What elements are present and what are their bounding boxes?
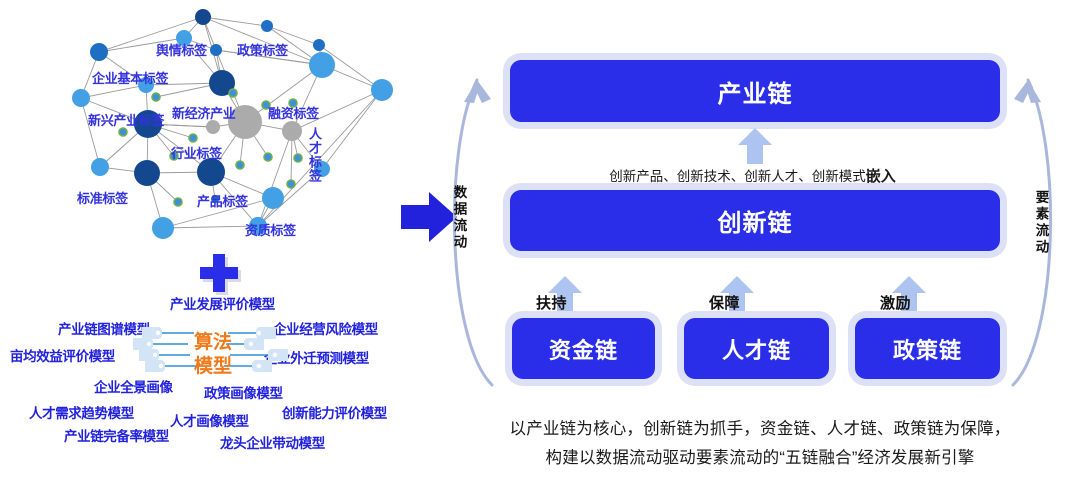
embed-bold-text: 嵌入: [866, 168, 896, 185]
model-label: 龙头企业带动模型: [220, 432, 325, 452]
graph-node-label: 舆情标签: [156, 40, 207, 59]
graph-edge: [81, 98, 100, 167]
graph-node[interactable]: [72, 89, 90, 107]
graph-node[interactable]: [189, 134, 197, 142]
policy-chain-box[interactable]: 政策链: [855, 318, 1000, 379]
capital-chain-box[interactable]: 资金链: [512, 318, 655, 379]
graph-node[interactable]: [261, 20, 273, 32]
caption-block: 以产业链为核心，创新链为抓手，资金链、人才链、政策链为保障， 构建以数据流动驱动…: [455, 415, 1065, 473]
policy-chain-label: 政策链: [893, 333, 962, 365]
step-label-policy: 激励: [880, 292, 911, 313]
step-label-talent: 保障: [709, 292, 740, 313]
graph-node-label: 资质标签: [245, 220, 296, 239]
graph-node-label: 新经济产业: [172, 103, 236, 122]
graph-edge: [163, 226, 258, 228]
talent-chain-label: 人才链: [722, 333, 791, 365]
factor-flow-arc: [995, 40, 1070, 400]
graph-node[interactable]: [90, 43, 108, 61]
graph-node[interactable]: [294, 154, 302, 162]
graph-node-label: 标准标签: [77, 188, 128, 207]
graph-node[interactable]: [236, 161, 244, 169]
algo-line-1: 算法: [194, 327, 232, 354]
graph-node-label: 政策标签: [237, 40, 288, 59]
graph-node[interactable]: [371, 79, 393, 101]
embed-description: 创新产品、创新技术、创新人才、创新模式嵌入: [430, 165, 1075, 186]
algorithm-model-core: 算法 模型: [185, 325, 275, 380]
model-label: 人才画像模型: [170, 410, 249, 430]
data-flow-arc: [435, 40, 510, 400]
industry-chain-box[interactable]: 产业链: [510, 60, 1000, 122]
arrow-up-innovation-to-industry-icon: [738, 128, 772, 164]
graph-node[interactable]: [134, 160, 160, 186]
graph-node-label: 融资标签: [268, 103, 319, 122]
embed-text: 创新产品、创新技术、创新人才、创新模式: [609, 169, 866, 184]
graph-node[interactable]: [197, 158, 225, 186]
graph-edge: [203, 17, 267, 26]
graph-node-label: 人才标签: [305, 127, 324, 183]
graph-node[interactable]: [229, 89, 237, 97]
graph-node-label: 新兴产业标签: [88, 110, 164, 129]
step-label-capital: 扶持: [536, 292, 567, 313]
five-chain-diagram: 数据流动 要素流动 产业链 创新产品、创新技术、创新人才、创新模式嵌入 创新链 …: [430, 40, 1075, 400]
data-flow-label: 数据流动: [452, 185, 466, 251]
algo-line-2: 模型: [194, 351, 232, 378]
graph-edge: [258, 131, 292, 226]
model-label: 产业发展评价模型: [170, 293, 275, 313]
graph-node[interactable]: [119, 128, 127, 136]
knowledge-graph-svg: [55, 5, 400, 270]
graph-node[interactable]: [206, 120, 220, 134]
graph-node[interactable]: [174, 198, 182, 206]
diagram-canvas: 舆情标签政策标签企业基本标签新经济产业融资标签新兴产业标签行业标签人才标签标准标…: [0, 0, 1075, 492]
factor-flow-label: 要素流动: [1034, 190, 1048, 256]
graph-node[interactable]: [262, 187, 284, 209]
innovation-chain-label: 创新链: [718, 203, 793, 238]
graph-node[interactable]: [91, 158, 109, 176]
graph-edge: [322, 90, 382, 169]
graph-node[interactable]: [152, 93, 160, 101]
graph-node[interactable]: [210, 44, 222, 56]
model-label: 亩均效益评价模型: [10, 345, 115, 365]
graph-node-label: 行业标签: [171, 143, 222, 162]
graph-node[interactable]: [152, 217, 174, 239]
capital-chain-label: 资金链: [549, 333, 618, 365]
graph-node[interactable]: [309, 52, 335, 78]
caption-line-2: 构建以数据流动驱动要素流动的“五链融合”经济发展新引擎: [455, 444, 1065, 473]
graph-node[interactable]: [313, 39, 325, 51]
graph-node[interactable]: [282, 121, 302, 141]
innovation-chain-box[interactable]: 创新链: [510, 190, 1000, 251]
graph-node[interactable]: [195, 9, 211, 25]
caption-line-1: 以产业链为核心，创新链为抓手，资金链、人才链、政策链为保障，: [455, 415, 1065, 444]
knowledge-graph-panel: 舆情标签政策标签企业基本标签新经济产业融资标签新兴产业标签行业标签人才标签标准标…: [55, 5, 400, 270]
graph-node-label: 企业基本标签: [92, 68, 168, 87]
graph-node[interactable]: [287, 180, 295, 188]
model-label: 创新能力评价模型: [282, 402, 387, 422]
graph-node[interactable]: [264, 153, 272, 161]
graph-node-label: 产品标签: [197, 191, 248, 210]
talent-chain-box[interactable]: 人才链: [684, 318, 829, 379]
industry-chain-label: 产业链: [718, 74, 793, 109]
model-label: 政策画像模型: [204, 382, 283, 402]
model-label: 产业链完备率模型: [64, 425, 169, 445]
model-label: 人才需求趋势模型: [29, 402, 134, 422]
